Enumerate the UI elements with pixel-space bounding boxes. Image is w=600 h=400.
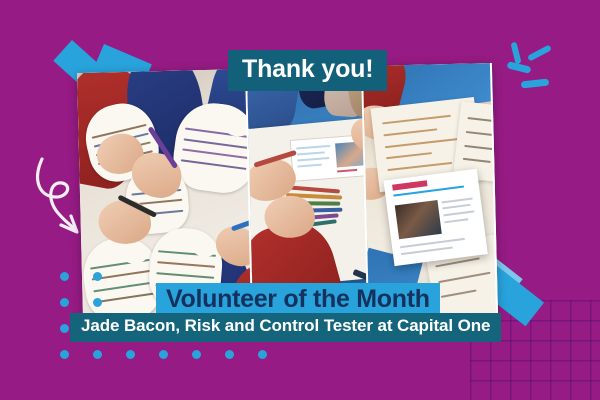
photo-hands-colouring-pencils xyxy=(247,66,369,319)
volunteer-name-banner: Jade Bacon, Risk and Control Tester at C… xyxy=(70,313,501,342)
sparkle-icon xyxy=(497,42,553,100)
poster-canvas: Thank you! Volunteer of the Month Jade B… xyxy=(0,0,600,400)
thank-you-banner: Thank you! xyxy=(228,50,387,91)
photo-worksheets-and-booklet xyxy=(363,63,498,316)
